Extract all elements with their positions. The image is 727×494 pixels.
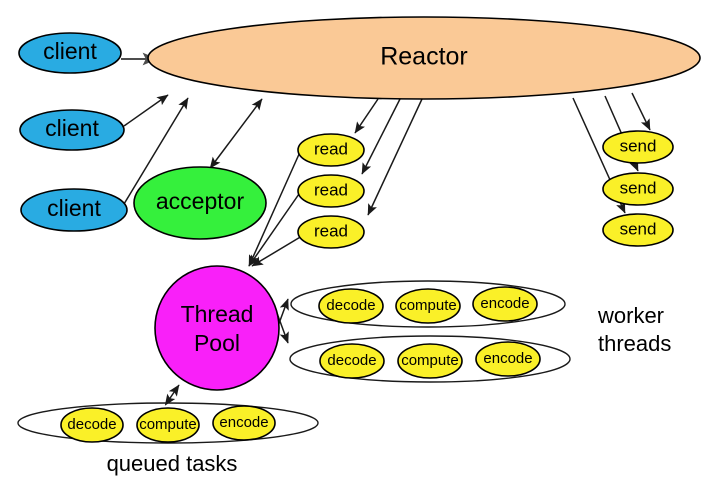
client-2-label: client [45,115,99,141]
queued-encode-label: encode [219,414,268,431]
send-3-label: send [620,219,657,238]
edge-reactor-to-read-3 [368,99,422,215]
thread-pool-label-line2: Pool [194,330,240,356]
send-2-label: send [620,178,657,197]
node-acceptor[interactable]: acceptor [134,167,266,239]
node-read-1[interactable]: read [298,134,364,166]
worker-row-1-task-compute[interactable]: compute [396,289,460,323]
thread-pool-circle[interactable] [155,266,279,390]
worker-row-2-task-compute[interactable]: compute [398,344,462,378]
edge-reactor-acceptor [211,99,262,167]
edge-reactor-to-read-1 [355,99,378,133]
node-send-3[interactable]: send [603,214,673,246]
worker-row-1-compute-label: compute [399,297,457,314]
diagram-canvas: Reactor client client client acceptor re… [0,0,727,494]
diagram-root: Reactor client client client acceptor re… [0,0,727,494]
worker-row-1-encode-label: encode [480,295,529,312]
client-1-label: client [43,38,97,64]
worker-row-2-tasks: decode compute encode [320,342,540,378]
node-send-1[interactable]: send [603,131,673,163]
queued-tasks-caption: queued tasks [107,451,238,476]
worker-row-1-tasks: decode compute encode [319,287,537,323]
edge-client2-to-reactor [124,95,168,126]
node-send-2[interactable]: send [603,173,673,205]
worker-row-1-task-encode[interactable]: encode [473,287,537,321]
node-client-1[interactable]: client [19,33,121,73]
reactor-label: Reactor [380,43,468,71]
worker-row-2-decode-label: decode [327,352,376,369]
queued-task-decode[interactable]: decode [61,408,123,442]
worker-row-2-task-decode[interactable]: decode [320,344,384,378]
edge-reactor-to-read-2 [362,99,400,174]
client-3-label: client [47,195,101,221]
read-2-label: read [314,180,348,199]
node-read-2[interactable]: read [298,175,364,207]
send-1-label: send [620,136,657,155]
node-client-2[interactable]: client [20,110,124,150]
acceptor-label: acceptor [156,188,245,214]
worker-row-1-decode-label: decode [326,297,375,314]
node-reactor[interactable]: Reactor [148,17,700,99]
worker-row-2-encode-label: encode [483,350,532,367]
queued-tasks-group: decode compute encode [61,406,275,442]
queued-task-compute[interactable]: compute [137,408,199,442]
queued-task-encode[interactable]: encode [213,406,275,440]
queued-decode-label: decode [67,416,116,433]
edge-reactor-to-send-1 [632,93,650,130]
worker-row-1-task-decode[interactable]: decode [319,289,383,323]
node-client-3[interactable]: client [21,189,127,231]
worker-row-2-task-encode[interactable]: encode [476,342,540,376]
worker-threads-caption-line2: threads [598,331,671,356]
thread-pool-label-line1: Thread [181,301,254,327]
worker-threads-caption-line1: worker [597,303,664,328]
node-thread-pool[interactable]: Thread Pool [155,266,279,390]
queued-compute-label: compute [139,416,197,433]
read-1-label: read [314,139,348,158]
node-read-3[interactable]: read [298,216,364,248]
read-3-label: read [314,221,348,240]
edge-threadpool-to-queued-tasks [166,385,179,404]
worker-row-2-compute-label: compute [401,352,459,369]
